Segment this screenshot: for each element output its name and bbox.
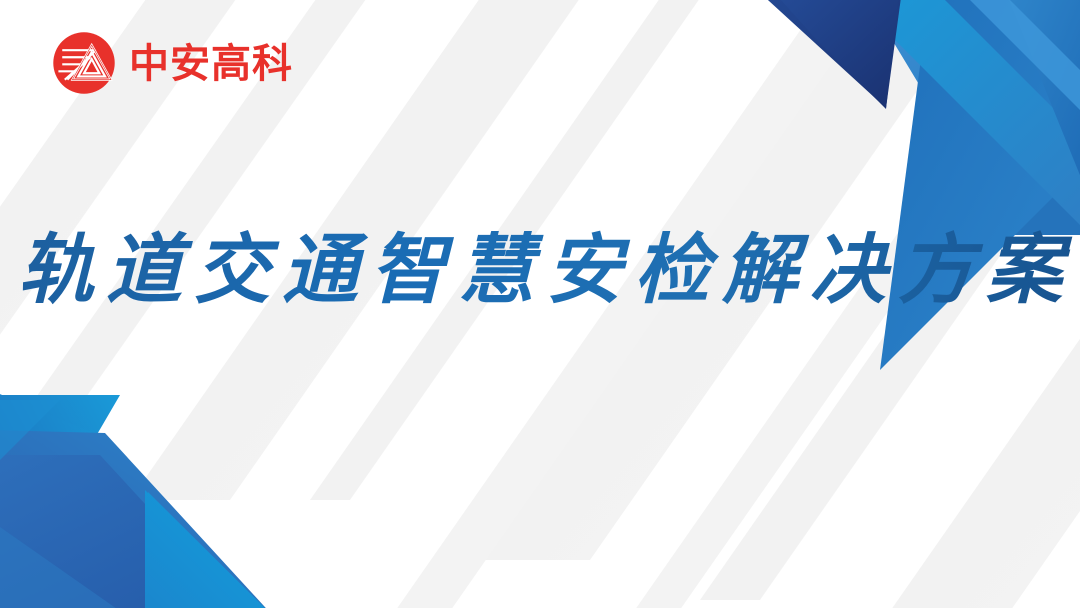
deco-tr-band-mid xyxy=(880,0,1080,370)
deco-bl-field xyxy=(0,395,120,608)
deco-tr-band-deep xyxy=(1005,0,1080,200)
deco-bl-field-2 xyxy=(0,390,110,608)
zhongan-gaoke-circle-logo-icon xyxy=(52,31,116,95)
deco-tr-field xyxy=(862,0,1080,235)
brand-logo: 中安高科 xyxy=(52,31,293,95)
deco-bl-triangle-main xyxy=(0,430,275,608)
deco-bl-edge-band xyxy=(0,400,60,470)
deco-bl-triangle-bright xyxy=(145,490,272,608)
deco-tr-navy-chevron-body xyxy=(781,0,898,109)
deco-tr-navy-chevron xyxy=(757,0,902,108)
slide-title: 轨道交通智慧安检解决方案 xyxy=(6,228,1074,312)
deco-bl-triangle-bright-2 xyxy=(148,492,275,608)
deco-tr-sliver xyxy=(960,0,1080,120)
deco-bl-wedge-dark xyxy=(0,455,250,608)
brand-wordmark: 中安高科 xyxy=(129,44,293,84)
title-container: 轨道交通智慧安检解决方案 xyxy=(0,228,1080,312)
deco-bl-edge-band-2 xyxy=(0,520,130,608)
title-slide: 中安高科 轨道交通智慧安检解决方案 xyxy=(0,0,1080,608)
deco-tr-band-bright xyxy=(845,0,1080,235)
